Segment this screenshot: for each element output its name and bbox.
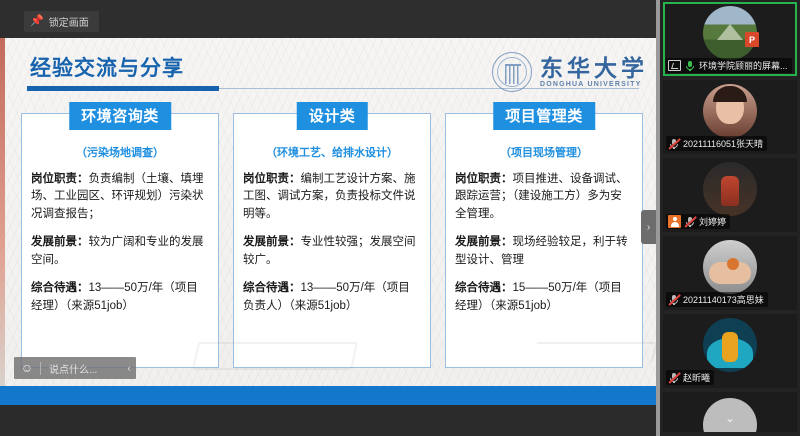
- participant-name: 20211116051张天晴: [683, 137, 763, 150]
- avatar: [703, 240, 757, 294]
- bottom-background: [0, 405, 660, 436]
- chat-composer[interactable]: ☺ 说点什么... ‹: [14, 357, 136, 379]
- category-card: 项目管理类 （项目现场管理） 岗位职责：项目推进、设备调试、跟踪运营；（建设施工…: [445, 113, 643, 368]
- card-badge: 项目管理类: [493, 102, 595, 130]
- mic-muted-icon: [684, 216, 696, 228]
- collapse-panel-handle[interactable]: ›: [641, 210, 656, 244]
- category-card: 环境咨询类 （污染场地调查） 岗位职责：负责编制（土壤、填埋场、工业园区、环评规…: [21, 113, 219, 368]
- presentation-slide: 经验交流与分享 东华大学 DONGHUA UNIVERSITY 环境咨询类 （污…: [5, 38, 660, 386]
- participant-filmstrip: P 环境学院顾丽的屏幕... 20211116051张天晴: [660, 0, 800, 436]
- participant-tile[interactable]: 赵昕曦: [663, 314, 797, 388]
- card-row: 岗位职责：负责编制（土壤、填埋场、工业园区、环评规划）污染状况调查报告；: [31, 171, 209, 223]
- row-label: 综合待遇：: [31, 282, 89, 294]
- lock-screen-button[interactable]: 📌 锁定画面: [24, 11, 99, 32]
- card-row: 综合待遇：13——50万/年（项目负责人）（来源51job）: [243, 280, 421, 315]
- participant-name: 刘婷婷: [699, 215, 726, 228]
- university-seal-icon: [492, 52, 532, 92]
- card-row: 综合待遇：13——50万/年（项目经理）（来源51job）: [31, 280, 209, 315]
- card-subtitle: （项目现场管理）: [455, 144, 633, 160]
- card-row: 发展前景：现场经验较足，利于转型设计、管理: [455, 234, 633, 269]
- card-row: 发展前景：专业性较强；发展空间较广。: [243, 234, 421, 269]
- mic-muted-icon: [668, 294, 680, 306]
- shared-screen-topbar: [0, 0, 660, 38]
- row-label: 发展前景：: [31, 236, 89, 248]
- row-label: 岗位职责：: [243, 173, 301, 185]
- university-name-en: DONGHUA UNIVERSITY: [540, 81, 648, 88]
- slide-title: 经验交流与分享: [30, 52, 184, 82]
- university-logo-text: 东华大学 DONGHUA UNIVERSITY: [540, 56, 648, 88]
- meeting-window: 📌 锁定画面 经验交流与分享 东华大学 DONGHUA UNIVERSITY 环…: [0, 0, 800, 436]
- mic-on-icon: [684, 60, 696, 72]
- card-badge: 设计类: [297, 102, 368, 130]
- participant-name: 赵昕曦: [683, 371, 710, 384]
- participant-label: 环境学院顾丽的屏幕...: [666, 58, 792, 73]
- row-label: 综合待遇：: [455, 282, 513, 294]
- slide-watermark-shape: [192, 342, 358, 370]
- participant-label: 20211140173高思妹: [666, 292, 768, 307]
- card-row: 岗位职责：编制工艺设计方案、施工图、调试方案，负责投标文件说明等。: [243, 171, 421, 223]
- university-logo: 东华大学 DONGHUA UNIVERSITY: [492, 52, 648, 92]
- card-badge: 环境咨询类: [69, 102, 171, 130]
- card-row: 综合待遇：15——50万/年（项目经理）（来源51job）: [455, 280, 633, 315]
- chevron-down-icon[interactable]: ⌄: [725, 411, 735, 425]
- chevron-left-icon[interactable]: ‹: [122, 363, 136, 373]
- row-label: 岗位职责：: [31, 173, 89, 185]
- pin-icon: 📌: [30, 16, 44, 27]
- mic-muted-icon: [668, 138, 680, 150]
- card-row: 发展前景：较为广阔和专业的发展空间。: [31, 234, 209, 269]
- screen-share-icon: [668, 60, 681, 71]
- lock-screen-label: 锁定画面: [49, 14, 89, 29]
- card-subtitle: （环境工艺、给排水设计）: [243, 144, 421, 160]
- participant-tile-partial[interactable]: ⌄: [663, 392, 797, 432]
- participant-tile[interactable]: P 环境学院顾丽的屏幕...: [663, 2, 797, 76]
- avatar: [703, 318, 757, 372]
- powerpoint-badge-icon: P: [745, 32, 759, 47]
- avatar: [703, 162, 757, 216]
- category-card: 设计类 （环境工艺、给排水设计） 岗位职责：编制工艺设计方案、施工图、调试方案，…: [233, 113, 431, 368]
- shared-screen-area: 📌 锁定画面 经验交流与分享 东华大学 DONGHUA UNIVERSITY 环…: [0, 0, 660, 436]
- row-label: 综合待遇：: [243, 282, 301, 294]
- participant-label: 20211116051张天晴: [666, 136, 767, 151]
- participant-label: 刘婷婷: [666, 214, 730, 229]
- university-name-cn: 东华大学: [540, 56, 648, 81]
- participant-tile[interactable]: 刘婷婷: [663, 158, 797, 232]
- panel-divider[interactable]: [656, 0, 660, 436]
- row-label: 发展前景：: [455, 236, 513, 248]
- card-subtitle: （污染场地调查）: [31, 144, 209, 160]
- category-cards: 环境咨询类 （污染场地调查） 岗位职责：负责编制（土壤、填埋场、工业园区、环评规…: [21, 113, 645, 368]
- title-underline: [27, 86, 219, 91]
- meeting-toolbar[interactable]: [0, 386, 660, 405]
- participant-tile[interactable]: 20211116051张天晴: [663, 80, 797, 154]
- participant-name: 20211140173高思妹: [683, 293, 764, 306]
- participant-name: 环境学院顾丽的屏幕...: [699, 59, 788, 72]
- participant-label: 赵昕曦: [666, 370, 714, 385]
- row-label: 发展前景：: [243, 236, 301, 248]
- host-icon: [668, 215, 681, 228]
- mic-muted-icon: [668, 372, 680, 384]
- chevron-right-icon: ›: [647, 222, 650, 233]
- card-row: 岗位职责：项目推进、设备调试、跟踪运营；（建设施工方）多为安全管理。: [455, 171, 633, 223]
- row-label: 岗位职责：: [455, 173, 513, 185]
- chat-input-placeholder[interactable]: 说点什么...: [41, 361, 122, 376]
- slide-watermark-shape: [533, 342, 657, 362]
- participant-tile[interactable]: 20211140173高思妹: [663, 236, 797, 310]
- avatar: [703, 84, 757, 138]
- emoji-icon[interactable]: ☺: [14, 361, 40, 375]
